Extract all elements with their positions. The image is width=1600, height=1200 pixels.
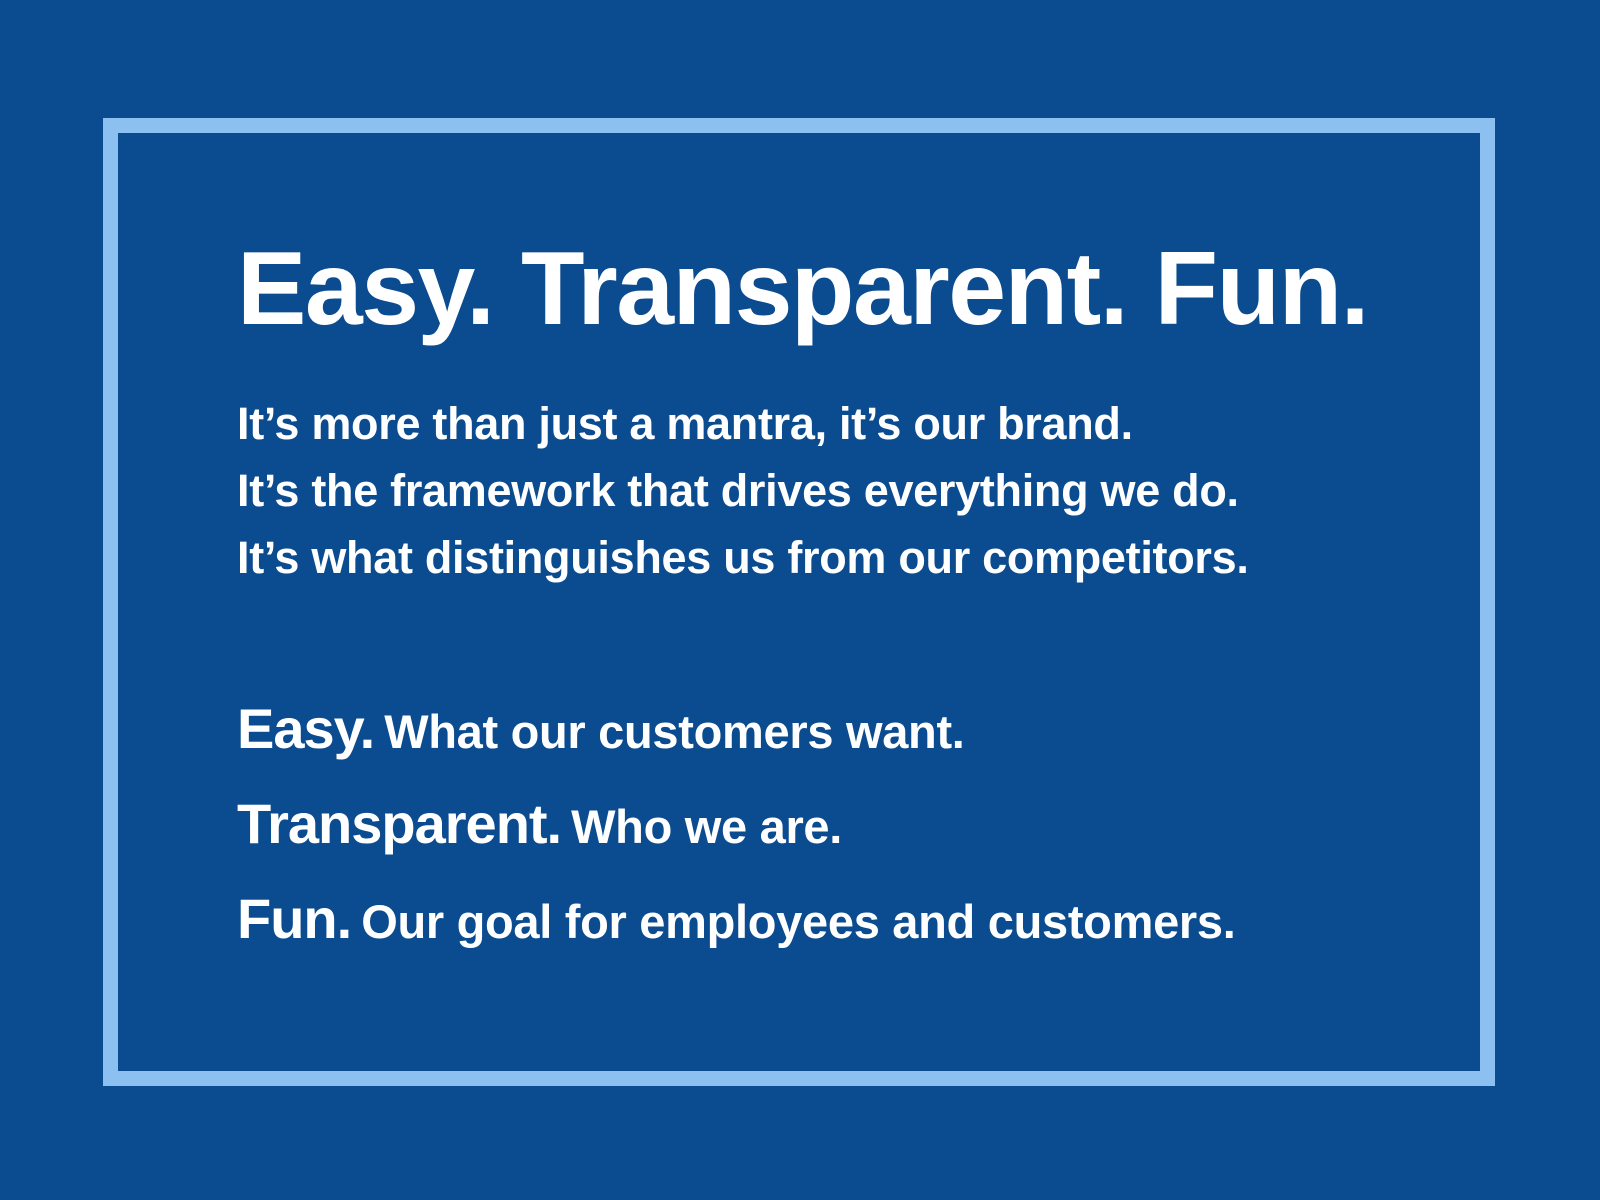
page-title: Easy. Transparent. Fun. <box>237 236 1357 342</box>
intro-line-1: It’s more than just a mantra, it’s our b… <box>237 390 1357 457</box>
value-item-transparent: Transparent.Who we are. <box>237 784 1357 879</box>
slide-content: Easy. Transparent. Fun. It’s more than j… <box>237 236 1357 974</box>
slide-canvas: Easy. Transparent. Fun. It’s more than j… <box>0 0 1600 1200</box>
value-description-transparent: Who we are. <box>561 800 842 853</box>
intro-line-2: It’s the framework that drives everythin… <box>237 457 1357 524</box>
value-description-easy: What our customers want. <box>374 705 964 758</box>
value-term-easy: Easy. <box>237 697 374 760</box>
value-item-fun: Fun.Our goal for employees and customers… <box>237 879 1357 974</box>
intro-paragraph: It’s more than just a mantra, it’s our b… <box>237 390 1357 591</box>
values-list: Easy.What our customers want. Transparen… <box>237 689 1357 974</box>
intro-line-3: It’s what distinguishes us from our comp… <box>237 524 1357 591</box>
value-term-transparent: Transparent. <box>237 792 561 855</box>
value-description-fun: Our goal for employees and customers. <box>351 895 1235 948</box>
value-term-fun: Fun. <box>237 887 351 950</box>
value-item-easy: Easy.What our customers want. <box>237 689 1357 784</box>
